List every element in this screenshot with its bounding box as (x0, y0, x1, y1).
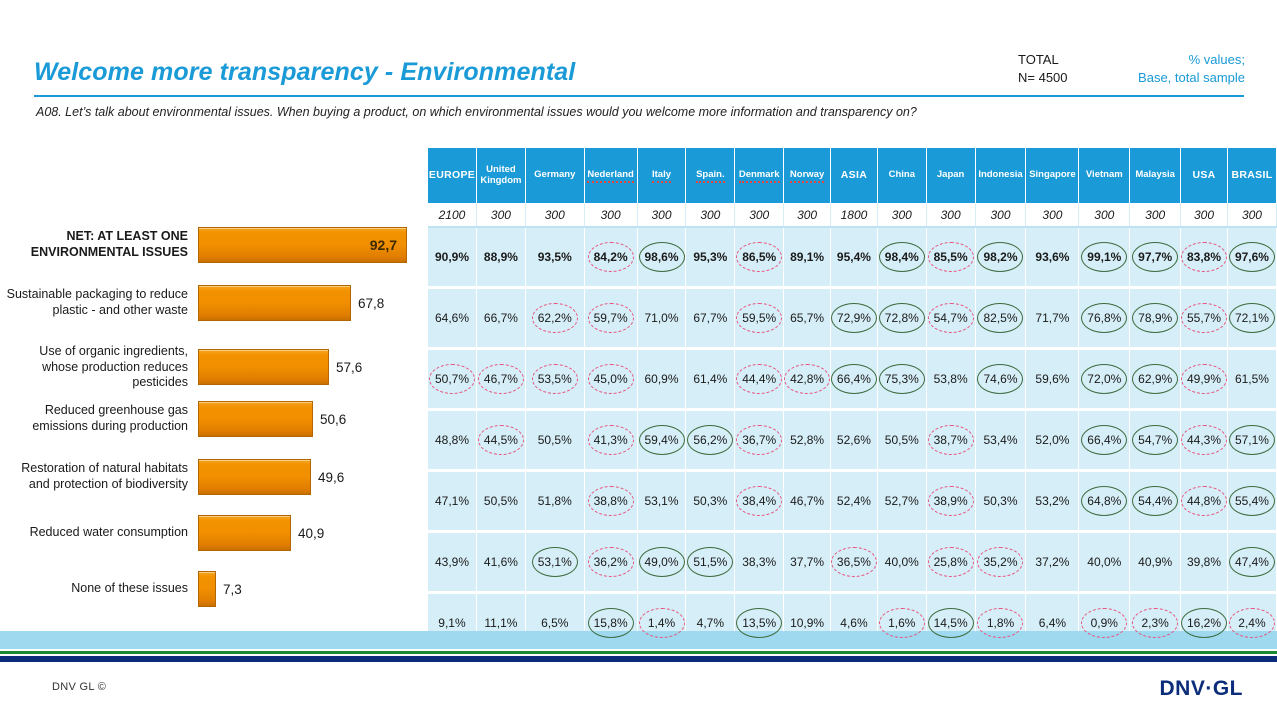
cell-content: 62,2% (526, 289, 584, 347)
data-cell[interactable]: 60,9% (637, 349, 686, 410)
cell-value: 90,9% (435, 250, 469, 264)
data-cell[interactable]: 64,8% (1079, 471, 1130, 532)
data-cell[interactable]: 61,4% (686, 349, 735, 410)
cell-value: 53,8% (934, 372, 968, 386)
data-cell[interactable]: 52,7% (877, 471, 926, 532)
data-cell[interactable]: 64,6% (428, 288, 476, 349)
cell-content: 44,3% (1181, 411, 1227, 469)
data-cell[interactable]: 66,4% (831, 349, 878, 410)
bar-label: Restoration of natural habitats and prot… (0, 461, 198, 492)
cell-value: 52,0% (1035, 433, 1069, 447)
data-cell[interactable]: 62,9% (1130, 349, 1181, 410)
data-cell[interactable]: 53,8% (926, 349, 975, 410)
cell-content: 50,7% (428, 350, 476, 408)
cell-content: 42,8% (784, 350, 830, 408)
bar-value-label: 40,9 (298, 526, 324, 541)
data-cell[interactable]: 59,7% (584, 288, 637, 349)
data-cell[interactable]: 82,5% (975, 288, 1026, 349)
cell-value: 89,1% (790, 250, 824, 264)
cell-value: 51,8% (538, 494, 572, 508)
data-cell[interactable]: 71,7% (1026, 288, 1079, 349)
cell-content: 62,9% (1130, 350, 1180, 408)
data-cell[interactable]: 83,8% (1181, 227, 1228, 288)
cell-content: 86,5% (735, 228, 783, 286)
cell-value: 47,4% (1235, 555, 1269, 569)
cell-value: 97,7% (1138, 250, 1172, 264)
bar-value-label: 50,6 (320, 412, 346, 427)
cell-value: 47,1% (435, 494, 469, 508)
data-cell[interactable]: 39,8% (1181, 532, 1228, 593)
footer-copyright: DNV GL © (52, 681, 106, 693)
data-cell[interactable]: 37,2% (1026, 532, 1079, 593)
column-base-size: 300 (1181, 204, 1228, 228)
cell-value: 64,6% (435, 311, 469, 325)
table-body: 90,9%88,9%93,5%84,2%98,6%95,3%86,5%89,1%… (428, 227, 1277, 654)
data-cell[interactable]: 72,0% (1079, 349, 1130, 410)
table-header-row: EUROPEUnited KingdomGermanyNederlandItal… (428, 148, 1277, 204)
cell-content: 39,8% (1181, 533, 1227, 591)
cell-content: 72,1% (1228, 289, 1276, 347)
data-cell[interactable]: 93,6% (1026, 227, 1079, 288)
data-cell[interactable]: 38,3% (735, 532, 784, 593)
data-cell[interactable]: 49,9% (1181, 349, 1228, 410)
data-cell[interactable]: 47,1% (428, 471, 476, 532)
data-cell[interactable]: 61,5% (1227, 349, 1276, 410)
column-header-china[interactable]: China (877, 148, 926, 204)
cell-value: 6,4% (1039, 616, 1066, 630)
cell-value: 56,2% (693, 433, 727, 447)
data-cell[interactable]: 37,7% (784, 532, 831, 593)
footer-band-navy (0, 656, 1277, 662)
bar-row: Use of organic ingredients, whose produc… (0, 344, 428, 391)
data-cell[interactable]: 41,6% (476, 532, 525, 593)
data-cell[interactable]: 50,3% (686, 471, 735, 532)
bar-value-label: 92,7 (370, 237, 397, 253)
cell-content: 53,1% (638, 472, 686, 530)
data-cell[interactable]: 50,5% (525, 410, 584, 471)
bar-fill (198, 459, 311, 495)
cell-content: 44,5% (477, 411, 525, 469)
cell-content: 97,7% (1130, 228, 1180, 286)
column-header-japan[interactable]: Japan (926, 148, 975, 204)
cell-content: 47,4% (1228, 533, 1276, 591)
data-cell[interactable]: 93,5% (525, 227, 584, 288)
column-header-label: Denmark (739, 169, 780, 183)
data-cell[interactable]: 99,1% (1079, 227, 1130, 288)
data-cell[interactable]: 40,0% (877, 532, 926, 593)
data-cell[interactable]: 53,4% (975, 410, 1026, 471)
cell-value: 52,7% (885, 494, 919, 508)
cell-content: 66,4% (1079, 411, 1129, 469)
data-cell[interactable]: 74,6% (975, 349, 1026, 410)
data-cell[interactable]: 59,4% (637, 410, 686, 471)
cell-value: 93,5% (538, 250, 572, 264)
bar-chart: NET: AT LEAST ONE ENVIRONMENTAL ISSUES92… (0, 210, 428, 620)
data-cell[interactable]: 84,2% (584, 227, 637, 288)
cell-value: 50,5% (484, 494, 518, 508)
data-cell[interactable]: 38,4% (735, 471, 784, 532)
bar-fill: 92,7 (198, 227, 407, 263)
cell-value: 2,3% (1141, 616, 1168, 630)
column-header-united-kingdom[interactable]: United Kingdom (476, 148, 525, 204)
cell-value: 52,8% (790, 433, 824, 447)
cell-value: 71,0% (644, 311, 678, 325)
data-cell[interactable]: 97,6% (1227, 227, 1276, 288)
column-header-asia[interactable]: ASIA (831, 148, 878, 204)
data-cell[interactable]: 66,4% (1079, 410, 1130, 471)
data-cell[interactable]: 50,7% (428, 349, 476, 410)
cell-value: 85,5% (934, 250, 968, 264)
cell-content: 40,0% (1079, 533, 1129, 591)
bar-label: Use of organic ingredients, whose produc… (0, 344, 198, 391)
data-cell[interactable]: 53,5% (525, 349, 584, 410)
data-cell[interactable]: 45,0% (584, 349, 637, 410)
cell-value: 74,6% (983, 372, 1017, 386)
cell-value: 95,3% (693, 250, 727, 264)
cell-value: 38,8% (594, 494, 628, 508)
cell-content: 88,9% (477, 228, 525, 286)
cell-value: 46,7% (790, 494, 824, 508)
cell-content: 50,5% (526, 411, 584, 469)
cell-content: 37,7% (784, 533, 830, 591)
data-cell[interactable]: 46,7% (784, 471, 831, 532)
data-cell[interactable]: 97,7% (1130, 227, 1181, 288)
cell-value: 38,4% (742, 494, 776, 508)
cell-value: 48,8% (435, 433, 469, 447)
bar-row: None of these issues7,3 (0, 572, 428, 606)
data-cell[interactable]: 59,6% (1026, 349, 1079, 410)
cell-content: 95,4% (831, 228, 877, 286)
cell-value: 14,5% (934, 616, 968, 630)
data-cell[interactable]: 98,2% (975, 227, 1026, 288)
data-cell[interactable]: 50,5% (877, 410, 926, 471)
cell-content: 46,7% (477, 350, 525, 408)
cell-value: 83,8% (1187, 250, 1221, 264)
cell-value: 37,7% (790, 555, 824, 569)
data-cell[interactable]: 38,9% (926, 471, 975, 532)
data-cell[interactable]: 53,2% (1026, 471, 1079, 532)
bar-label: NET: AT LEAST ONE ENVIRONMENTAL ISSUES (0, 229, 198, 260)
data-cell[interactable]: 51,5% (686, 532, 735, 593)
data-cell[interactable]: 55,7% (1181, 288, 1228, 349)
column-header-italy[interactable]: Italy (637, 148, 686, 204)
data-cell[interactable]: 72,1% (1227, 288, 1276, 349)
bar-fill (198, 285, 351, 321)
cell-value: 66,4% (837, 372, 871, 386)
cell-value: 50,5% (885, 433, 919, 447)
cell-content: 67,7% (686, 289, 734, 347)
dnv-gl-logo: DNV·GL (1160, 677, 1244, 701)
data-cell[interactable]: 40,9% (1130, 532, 1181, 593)
cell-content: 25,8% (927, 533, 975, 591)
data-cell[interactable]: 25,8% (926, 532, 975, 593)
cell-value: 53,1% (538, 555, 572, 569)
data-cell[interactable]: 50,3% (975, 471, 1026, 532)
cell-content: 98,6% (638, 228, 686, 286)
cell-value: 0,9% (1091, 616, 1118, 630)
data-cell[interactable]: 42,8% (784, 349, 831, 410)
data-cell[interactable]: 54,7% (1130, 410, 1181, 471)
cell-content: 38,3% (735, 533, 783, 591)
column-base-size: 2100 (428, 204, 476, 228)
cell-value: 59,6% (1035, 372, 1069, 386)
bar-row: NET: AT LEAST ONE ENVIRONMENTAL ISSUES92… (0, 228, 428, 262)
cell-content: 84,2% (585, 228, 637, 286)
cell-content: 60,9% (638, 350, 686, 408)
cell-value: 36,7% (742, 433, 776, 447)
cell-value: 65,7% (790, 311, 824, 325)
cell-value: 1,4% (648, 616, 675, 630)
cell-value: 52,6% (837, 433, 871, 447)
cell-content: 50,5% (477, 472, 525, 530)
bar-label: None of these issues (0, 581, 198, 597)
column-base-size: 300 (476, 204, 525, 228)
column-header-malaysia[interactable]: Malaysia (1130, 148, 1181, 204)
data-cell[interactable]: 75,3% (877, 349, 926, 410)
data-cell[interactable]: 52,0% (1026, 410, 1079, 471)
cell-value: 50,3% (693, 494, 727, 508)
cell-content: 36,5% (831, 533, 877, 591)
cell-content: 38,4% (735, 472, 783, 530)
bar-track: 50,6 (198, 402, 346, 436)
cell-content: 38,9% (927, 472, 975, 530)
cell-content: 72,0% (1079, 350, 1129, 408)
column-header-spain[interactable]: Spain. (686, 148, 735, 204)
data-cell[interactable]: 71,0% (637, 288, 686, 349)
column-header-denmark[interactable]: Denmark (735, 148, 784, 204)
data-cell[interactable]: 53,1% (525, 532, 584, 593)
cell-content: 90,9% (428, 228, 476, 286)
data-cell[interactable]: 52,8% (784, 410, 831, 471)
data-cell[interactable]: 38,8% (584, 471, 637, 532)
data-cell[interactable]: 40,0% (1079, 532, 1130, 593)
cell-content: 52,6% (831, 411, 877, 469)
cell-content: 46,7% (784, 472, 830, 530)
data-cell[interactable]: 98,4% (877, 227, 926, 288)
data-cell[interactable]: 65,7% (784, 288, 831, 349)
data-cell[interactable]: 89,1% (784, 227, 831, 288)
column-base-size: 300 (686, 204, 735, 228)
data-cell[interactable]: 85,5% (926, 227, 975, 288)
cell-value: 38,3% (742, 555, 776, 569)
data-cell[interactable]: 48,8% (428, 410, 476, 471)
cell-content: 78,9% (1130, 289, 1180, 347)
data-cell[interactable]: 72,8% (877, 288, 926, 349)
cell-value: 6,5% (541, 616, 568, 630)
column-base-size: 300 (637, 204, 686, 228)
cell-value: 75,3% (885, 372, 919, 386)
cell-content: 95,3% (686, 228, 734, 286)
data-cell[interactable]: 57,1% (1227, 410, 1276, 471)
data-cell[interactable]: 36,5% (831, 532, 878, 593)
column-base-size: 300 (1130, 204, 1181, 228)
column-header-brasil[interactable]: BRASIL (1227, 148, 1276, 204)
cell-value: 4,6% (840, 616, 867, 630)
bar-fill (198, 571, 216, 607)
cell-value: 54,4% (1138, 494, 1172, 508)
column-header-label: Italy (652, 169, 671, 183)
column-base-size: 300 (877, 204, 926, 228)
data-cell[interactable]: 47,4% (1227, 532, 1276, 593)
cell-value: 72,1% (1235, 311, 1269, 325)
cell-value: 50,5% (538, 433, 572, 447)
cell-value: 42,8% (790, 372, 824, 386)
column-header-vietnam[interactable]: Vietnam (1079, 148, 1130, 204)
cell-value: 2,4% (1238, 616, 1265, 630)
table-row: 47,1%50,5%51,8%38,8%53,1%50,3%38,4%46,7%… (428, 471, 1277, 532)
column-header-germany[interactable]: Germany (525, 148, 584, 204)
data-cell[interactable]: 54,7% (926, 288, 975, 349)
table-row: 43,9%41,6%53,1%36,2%49,0%51,5%38,3%37,7%… (428, 532, 1277, 593)
column-base-size: 300 (584, 204, 637, 228)
column-header-europe[interactable]: EUROPE (428, 148, 476, 204)
column-header-label: Nederland (587, 169, 633, 183)
data-cell[interactable]: 88,9% (476, 227, 525, 288)
column-header-norway[interactable]: Norway (784, 148, 831, 204)
bar-track: 67,8 (198, 286, 384, 320)
country-breakdown-table: EUROPEUnited KingdomGermanyNederlandItal… (428, 148, 1277, 655)
data-cell[interactable]: 62,2% (525, 288, 584, 349)
data-cell[interactable]: 72,9% (831, 288, 878, 349)
cell-content: 38,7% (927, 411, 975, 469)
column-header-singapore[interactable]: Singapore (1026, 148, 1079, 204)
bar-value-label: 7,3 (223, 582, 242, 597)
data-cell[interactable]: 44,4% (735, 349, 784, 410)
data-cell[interactable]: 53,1% (637, 471, 686, 532)
data-cell[interactable]: 38,7% (926, 410, 975, 471)
data-cell[interactable]: 41,3% (584, 410, 637, 471)
cell-content: 51,5% (686, 533, 734, 591)
bar-fill (198, 515, 291, 551)
cell-value: 62,2% (538, 311, 572, 325)
data-cell[interactable]: 51,8% (525, 471, 584, 532)
bar-track: 40,9 (198, 516, 324, 550)
column-base-size: 300 (1026, 204, 1079, 228)
column-base-size: 300 (525, 204, 584, 228)
cell-value: 49,9% (1187, 372, 1221, 386)
cell-content: 43,9% (428, 533, 476, 591)
bar-track: 49,6 (198, 460, 344, 494)
data-cell[interactable]: 46,7% (476, 349, 525, 410)
cell-value: 99,1% (1087, 250, 1121, 264)
column-header-usa[interactable]: USA (1181, 148, 1228, 204)
cell-content: 59,7% (585, 289, 637, 347)
cell-content: 56,2% (686, 411, 734, 469)
cell-content: 52,0% (1026, 411, 1078, 469)
data-cell[interactable]: 36,2% (584, 532, 637, 593)
data-cell[interactable]: 52,6% (831, 410, 878, 471)
data-cell[interactable]: 36,7% (735, 410, 784, 471)
cell-content: 57,1% (1228, 411, 1276, 469)
cell-value: 86,5% (742, 250, 776, 264)
data-cell[interactable]: 54,4% (1130, 471, 1181, 532)
cell-content: 97,6% (1228, 228, 1276, 286)
data-cell[interactable]: 56,2% (686, 410, 735, 471)
base-total-sample-note: Base, total sample (1125, 69, 1245, 87)
cell-value: 72,9% (837, 311, 871, 325)
cell-content: 53,8% (927, 350, 975, 408)
cell-value: 78,9% (1138, 311, 1172, 325)
cell-value: 11,1% (484, 616, 517, 630)
cell-content: 55,7% (1181, 289, 1227, 347)
table-row: 64,6%66,7%62,2%59,7%71,0%67,7%59,5%65,7%… (428, 288, 1277, 349)
cell-value: 40,0% (1087, 555, 1121, 569)
data-cell[interactable]: 90,9% (428, 227, 476, 288)
bar-row: Reduced greenhouse gas emissions during … (0, 402, 428, 436)
data-cell[interactable]: 95,3% (686, 227, 735, 288)
data-cell[interactable]: 49,0% (637, 532, 686, 593)
table-row: 50,7%46,7%53,5%45,0%60,9%61,4%44,4%42,8%… (428, 349, 1277, 410)
cell-content: 59,6% (1026, 350, 1078, 408)
data-cell[interactable]: 44,3% (1181, 410, 1228, 471)
cell-content: 35,2% (976, 533, 1026, 591)
cell-content: 37,2% (1026, 533, 1078, 591)
cell-value: 1,8% (987, 616, 1014, 630)
cell-content: 61,5% (1228, 350, 1276, 408)
cell-value: 55,4% (1235, 494, 1269, 508)
footer-band-lightblue (0, 631, 1277, 649)
cell-content: 71,7% (1026, 289, 1078, 347)
cell-value: 61,4% (693, 372, 727, 386)
cell-value: 1,6% (888, 616, 915, 630)
data-cell[interactable]: 52,4% (831, 471, 878, 532)
data-cell[interactable]: 98,6% (637, 227, 686, 288)
data-cell[interactable]: 43,9% (428, 532, 476, 593)
data-cell[interactable]: 55,4% (1227, 471, 1276, 532)
data-cell[interactable]: 59,5% (735, 288, 784, 349)
column-header-label: Norway (790, 169, 824, 183)
cell-value: 44,4% (742, 372, 776, 386)
cell-value: 15,8% (594, 616, 628, 630)
cell-content: 47,1% (428, 472, 476, 530)
cell-value: 84,2% (594, 250, 628, 264)
cell-content: 54,7% (1130, 411, 1180, 469)
column-header-nederland[interactable]: Nederland (584, 148, 637, 204)
data-cell[interactable]: 67,7% (686, 288, 735, 349)
cell-content: 49,9% (1181, 350, 1227, 408)
bar-row: Reduced water consumption40,9 (0, 516, 428, 550)
cell-value: 76,8% (1087, 311, 1121, 325)
cell-value: 66,7% (484, 311, 518, 325)
total-label: TOTAL (1018, 51, 1068, 69)
question-text: A08. Let’s talk about environmental issu… (36, 104, 976, 122)
cell-value: 36,5% (837, 555, 871, 569)
cell-content: 61,4% (686, 350, 734, 408)
cell-content: 64,6% (428, 289, 476, 347)
cell-content: 53,4% (976, 411, 1026, 469)
cell-content: 66,4% (831, 350, 877, 408)
cell-value: 98,4% (885, 250, 919, 264)
data-cell[interactable]: 44,8% (1181, 471, 1228, 532)
data-cell[interactable]: 44,5% (476, 410, 525, 471)
data-cell[interactable]: 35,2% (975, 532, 1026, 593)
data-cell[interactable]: 76,8% (1079, 288, 1130, 349)
cell-content: 52,7% (878, 472, 926, 530)
cell-value: 53,2% (1035, 494, 1069, 508)
cell-content: 38,8% (585, 472, 637, 530)
data-cell[interactable]: 78,9% (1130, 288, 1181, 349)
cell-value: 53,5% (538, 372, 572, 386)
data-cell[interactable]: 86,5% (735, 227, 784, 288)
cell-content: 74,6% (976, 350, 1026, 408)
data-cell[interactable]: 50,5% (476, 471, 525, 532)
cell-value: 53,1% (644, 494, 678, 508)
cell-value: 10,9% (790, 616, 824, 630)
column-header-indonesia[interactable]: Indonesia (975, 148, 1026, 204)
data-cell[interactable]: 95,4% (831, 227, 878, 288)
table-row: 90,9%88,9%93,5%84,2%98,6%95,3%86,5%89,1%… (428, 227, 1277, 288)
data-cell[interactable]: 66,7% (476, 288, 525, 349)
